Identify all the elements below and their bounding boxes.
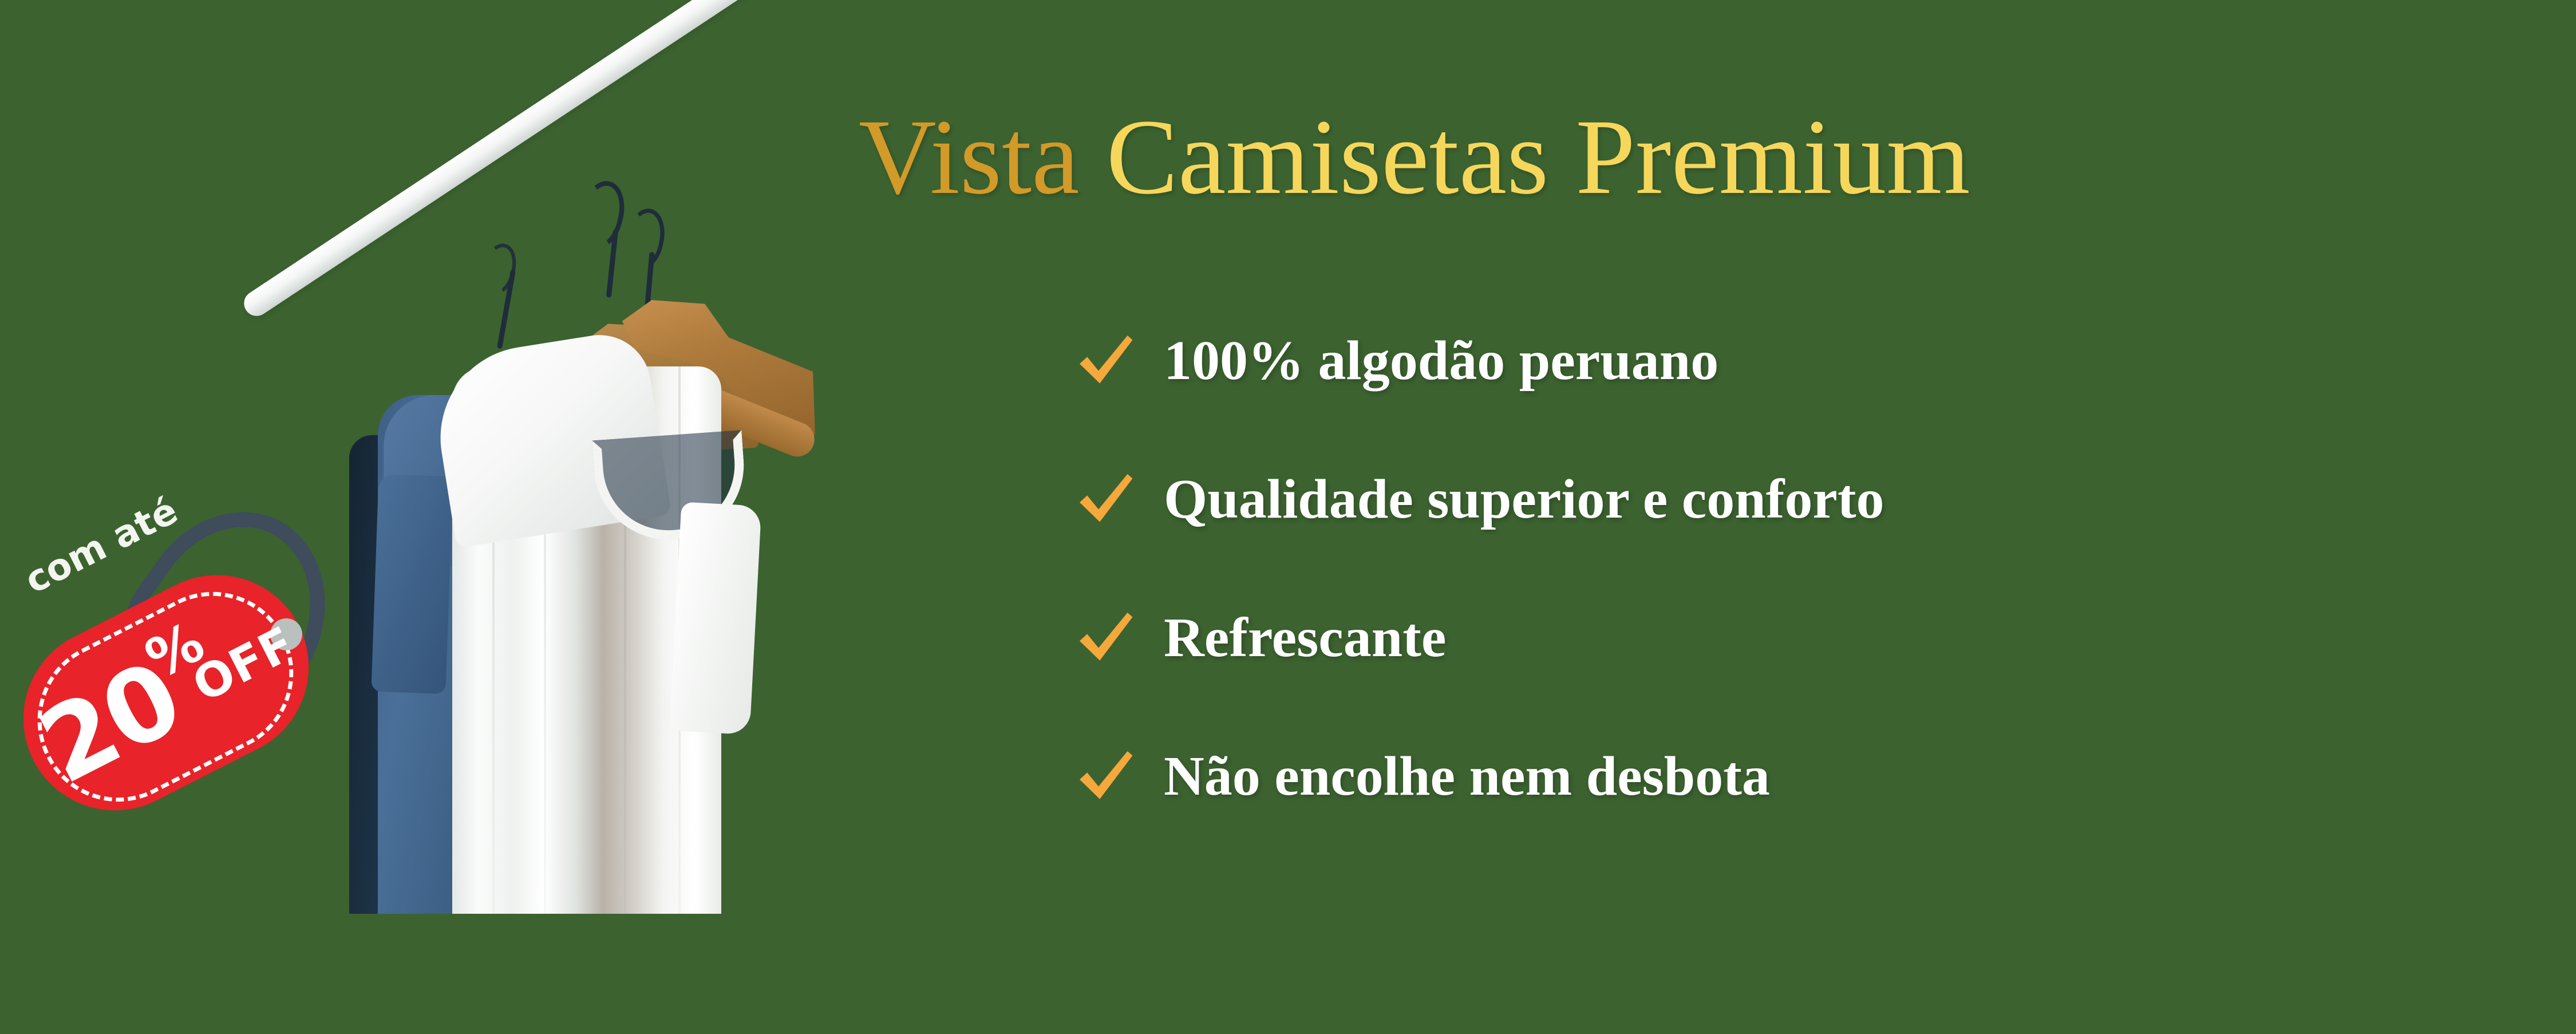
- check-icon: [1073, 468, 1136, 531]
- photo-bottom-crop: [0, 914, 830, 1034]
- discount-tag-badge: 20 % OFF com até: [11, 561, 447, 916]
- check-icon: [1073, 606, 1136, 669]
- hanger-hook-icon: [619, 205, 670, 273]
- off-label: OFF: [186, 620, 302, 710]
- hanger-hook-icon: [476, 239, 521, 298]
- check-icon: [1073, 745, 1136, 808]
- check-icon: [1073, 329, 1136, 392]
- feature-label: 100% algodão peruano: [1164, 333, 1718, 389]
- feature-item: 100% algodão peruano: [1073, 318, 2447, 404]
- feature-list: 100% algodão peruano Qualidade superior …: [1073, 318, 2447, 819]
- feature-label: Não encolhe nem desbota: [1164, 748, 1770, 804]
- headline: Vista Camisetas Premium: [859, 100, 1970, 213]
- feature-item: Não encolhe nem desbota: [1073, 733, 2447, 819]
- feature-label: Qualidade superior e conforto: [1164, 471, 1884, 527]
- white-tshirt-sleeve: [670, 502, 762, 735]
- promo-banner: 20 % OFF com até Vista Camisetas Premium…: [0, 0, 2576, 1034]
- headline-part-2: Camisetas Premium: [1107, 97, 1970, 216]
- content-column: Vista Camisetas Premium 100% algodão per…: [859, 0, 2519, 1034]
- hanger-hook-icon: [572, 176, 631, 253]
- feature-item: Refrescante: [1073, 595, 2447, 681]
- feature-item: Qualidade superior e conforto: [1073, 456, 2447, 542]
- feature-label: Refrescante: [1164, 610, 1446, 666]
- headline-part-1: Vista: [859, 97, 1107, 216]
